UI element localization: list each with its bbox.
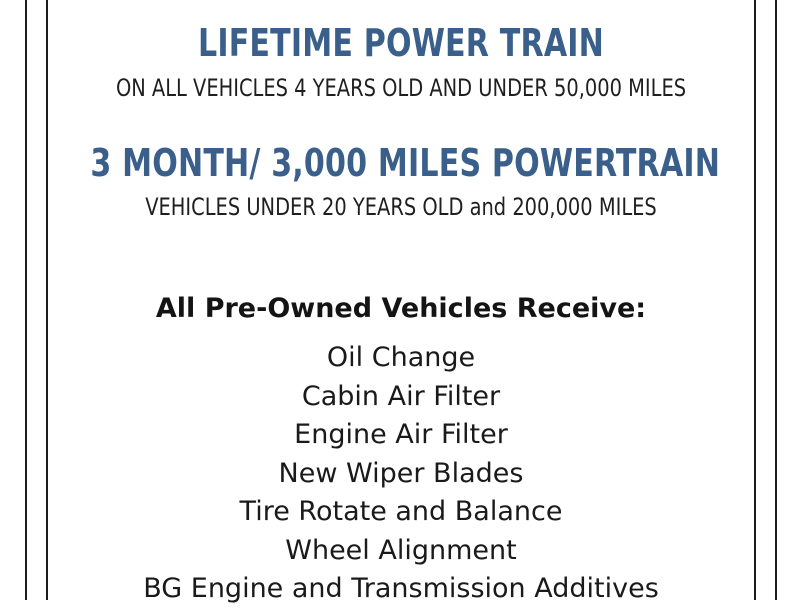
service-list-item: Tire Rotate and Balance — [48, 493, 754, 532]
warranty-subtitle-three-month: VEHICLES UNDER 20 YEARS OLD and 200,000 … — [83, 195, 718, 219]
services-heading: All Pre-Owned Vehicles Receive: — [48, 295, 754, 322]
flyer-content: LIFETIME POWER TRAIN ON ALL VEHICLES 4 Y… — [48, 0, 754, 600]
warranty-title-three-month: 3 MONTH/ 3,000 MILES POWERTRAIN — [90, 144, 711, 182]
service-list-item: New Wiper Blades — [48, 455, 754, 494]
service-list-item: Wheel Alignment — [48, 532, 754, 571]
border-rule-left-outer — [25, 0, 27, 600]
warranty-block-lifetime: LIFETIME POWER TRAIN ON ALL VEHICLES 4 Y… — [48, 0, 754, 100]
warranty-block-three-month: 3 MONTH/ 3,000 MILES POWERTRAIN VEHICLES… — [48, 100, 754, 219]
border-rule-right-inner — [754, 0, 756, 600]
warranty-flyer-page: { "flyer": { "colors": { "heading_blue":… — [0, 0, 800, 600]
service-list-item: BG Engine and Transmission Additives — [48, 570, 754, 609]
warranty-subtitle-lifetime: ON ALL VEHICLES 4 YEARS OLD AND UNDER 50… — [83, 76, 718, 100]
service-list-item: Engine Air Filter — [48, 416, 754, 455]
warranty-title-lifetime: LIFETIME POWER TRAIN — [90, 24, 711, 62]
services-list: Oil ChangeCabin Air FilterEngine Air Fil… — [48, 339, 754, 609]
service-list-item: Cabin Air Filter — [48, 378, 754, 417]
border-rule-right-outer — [775, 0, 777, 600]
service-list-item: Oil Change — [48, 339, 754, 378]
services-block: All Pre-Owned Vehicles Receive: Oil Chan… — [48, 219, 754, 609]
